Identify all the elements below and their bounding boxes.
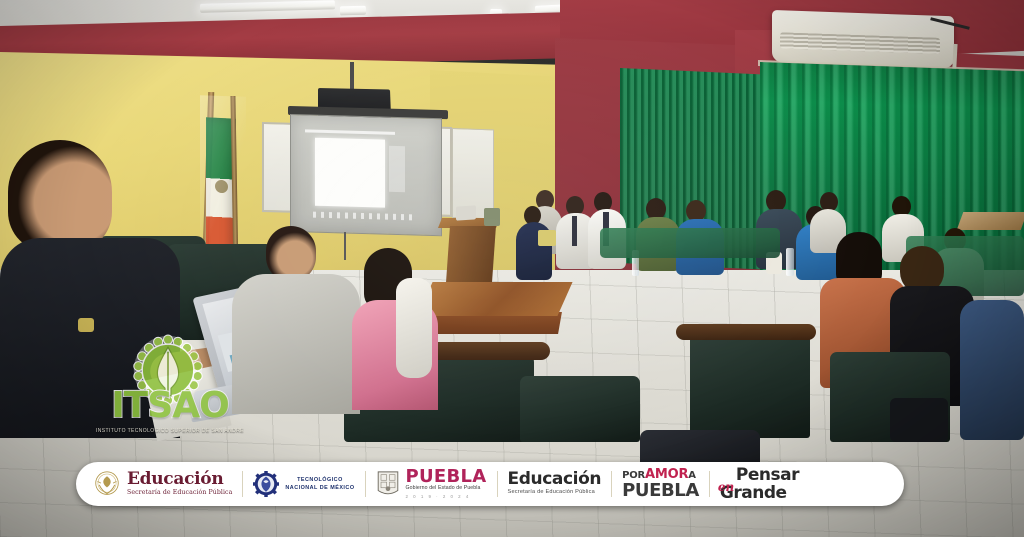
shirt-logo	[78, 318, 94, 332]
logo-tecnm-primary: TECNOLÓGICO	[285, 476, 354, 484]
slide-content	[315, 138, 385, 208]
logo-sep-puebla: Educación Secretaría de Educación Públic…	[498, 462, 612, 506]
amor-puebla: PUEBLA	[622, 482, 699, 500]
puebla-shield-icon	[376, 470, 400, 498]
fluorescent-light	[200, 0, 335, 13]
logo-por-amor-a-puebla: PORAMORA PUEBLA	[612, 462, 709, 506]
slide-sidebar	[389, 146, 405, 192]
logo-puebla-secondary: Gobierno del Estado de Puebla	[406, 485, 487, 493]
pensar-script-en: en	[718, 481, 734, 493]
side-table	[446, 226, 496, 282]
water-bottle	[786, 248, 794, 276]
fluorescent-light	[340, 6, 366, 16]
person-foreground	[396, 278, 432, 378]
cabinet-top	[957, 212, 1024, 230]
ac-vent	[780, 32, 940, 54]
bag	[484, 208, 500, 226]
logo-puebla: PUEBLA Gobierno del Estado de Puebla 2 0…	[366, 462, 497, 506]
logo-sep-secondary: Secretaría de Educación Pública	[127, 488, 232, 497]
itsao-watermark: ITSAO INSTITUTO TECNOLOGICO SUPERIOR DE …	[96, 332, 244, 440]
pensar-line1: Pensar	[736, 467, 799, 484]
logo-pensar-en-grande: Pensar Grande en	[710, 462, 819, 506]
chair	[890, 398, 948, 442]
chair-armrest	[676, 324, 816, 340]
logo-tecnm: TECNOLÓGICO NACIONAL DE MÉXICO	[243, 462, 364, 506]
chair	[690, 330, 810, 438]
chair	[520, 376, 640, 442]
projector-mount	[350, 62, 354, 92]
logo-sep-primary: Educación	[127, 471, 232, 488]
itsao-subtitle: INSTITUTO TECNOLOGICO SUPERIOR DE SAN AN…	[96, 428, 244, 434]
bench-seat	[600, 228, 780, 258]
logo-puebla-years: 2 0 1 9 · 2 0 2 4	[406, 493, 487, 500]
logo-puebla-primary: PUEBLA	[406, 468, 487, 485]
mexico-eagle-seal-icon	[94, 470, 120, 498]
footer-logo-banner: Educación Secretaría de Educación Públic…	[76, 462, 904, 506]
logo-sep-puebla-secondary: Secretaría de Educación Pública	[508, 488, 602, 497]
projector-screen	[290, 114, 442, 236]
itsao-wordmark: ITSAO	[96, 388, 244, 424]
papers	[456, 205, 476, 220]
slide-toolbar	[313, 212, 413, 221]
logo-sep: Educación Secretaría de Educación Públic…	[76, 462, 242, 506]
logo-sep-puebla-primary: Educación	[508, 471, 602, 488]
logo-tecnm-secondary: NACIONAL DE MÉXICO	[285, 484, 354, 492]
tecnm-gear-icon	[253, 471, 279, 497]
screen-cord	[344, 232, 346, 260]
low-platform-top	[417, 282, 572, 316]
slide-title-bar	[305, 129, 395, 135]
air-conditioner	[772, 10, 954, 68]
screenshot-root: ITSAO INSTITUTO TECNOLOGICO SUPERIOR DE …	[0, 0, 1024, 537]
